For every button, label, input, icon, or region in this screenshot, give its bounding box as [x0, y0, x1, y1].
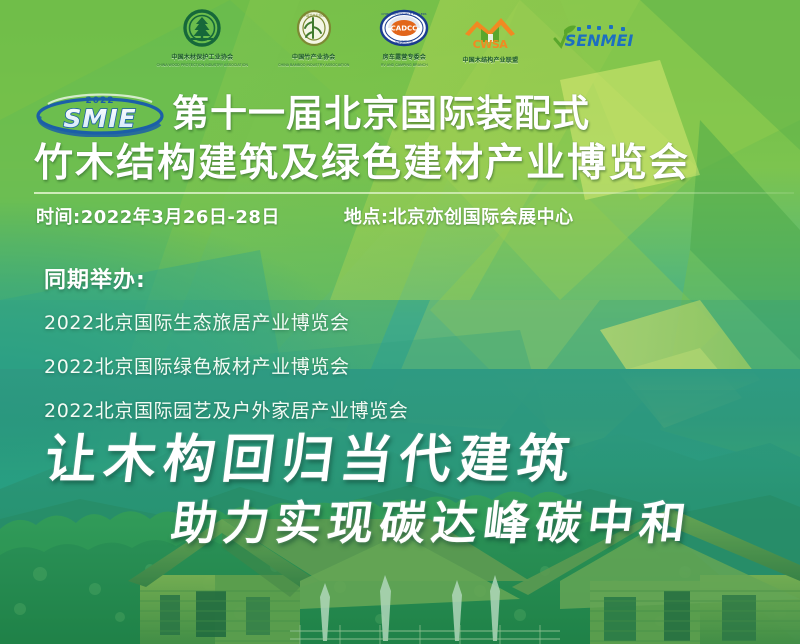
svg-text:SMIE: SMIE: [63, 104, 136, 133]
organizer-logo-cadcc[interactable]: CADCC CHINA AUTOMOBILE DEALERS 房车露营分会 房车…: [379, 9, 429, 67]
concurrent-events-block: 同期举办: 2022北京国际生态旅居产业博览会 2022北京国际绿色板材产业博览…: [44, 262, 408, 440]
svg-text:中国竹产业协会: 中国竹产业协会: [303, 13, 326, 18]
organizer-name-en: CHINA WOOD PROTECTION INDUSTRY ASSOCIATI…: [157, 63, 248, 67]
slogan-line-1: 让木构回归当代建筑: [41, 417, 581, 492]
exhibition-poster: 中国木材保护工业协会 CHINA WOOD PROTECTION INDUSTR…: [0, 0, 800, 644]
concurrent-heading: 同期举办:: [44, 262, 408, 294]
cwsa-house-icon: CWSA: [459, 12, 521, 57]
organizer-logo-cwsa[interactable]: CWSA 中国木结构产业联盟: [459, 12, 521, 65]
organizer-logo-row: 中国木材保护工业协会 CHINA WOOD PROTECTION INDUSTR…: [0, 8, 800, 68]
svg-text:CWSA: CWSA: [473, 38, 509, 51]
organizer-name-en: CHINA BAMBOO INDUSTRY ASSOCIATION: [278, 63, 349, 67]
svg-text:房车露营分会: 房车露营分会: [395, 39, 413, 44]
tree-shield-icon: [180, 9, 224, 54]
organizer-logo-bamboo-association[interactable]: 中国竹产业协会 中国竹产业协会 CHINA BAMBOO INDUSTRY AS…: [278, 9, 349, 67]
title-line-2: 竹木结构建筑及绿色建材产业博览会: [34, 141, 690, 186]
senmei-wordmark-icon: SENMEI: [551, 19, 643, 58]
title-divider: [34, 192, 794, 194]
organizer-name-cn: 房车露营专委会: [383, 55, 426, 62]
slogan-line-2: 助力实现碳达峰碳中和: [168, 487, 696, 553]
title-block: 2022 SMIE 第十一届北京国际装配式 竹木结构建筑及绿色建材产业博览会: [0, 88, 800, 186]
smie-logo[interactable]: 2022 SMIE: [34, 91, 166, 137]
organizer-name-cn: 中国木材保护工业协会: [171, 55, 233, 62]
title-line-1: 第十一届北京国际装配式: [172, 92, 590, 136]
cadcc-oval-icon: CADCC CHINA AUTOMOBILE DEALERS 房车露营分会: [379, 9, 429, 54]
svg-text:SENMEI: SENMEI: [565, 31, 634, 50]
concurrent-event-item[interactable]: 2022北京国际绿色板材产业博览会: [44, 352, 408, 379]
organizer-name-cn: 中国竹产业协会: [292, 55, 335, 62]
concurrent-event-item[interactable]: 2022北京国际生态旅居产业博览会: [44, 308, 408, 335]
event-meta: 时间:2022年3月26日-28日 地点:北京亦创国际会展中心: [36, 203, 574, 229]
bamboo-seal-icon: 中国竹产业协会: [293, 9, 335, 54]
organizer-name-cn: 中国木结构产业联盟: [462, 58, 518, 65]
organizer-name-en: RV AND CAMPING BRANCH: [381, 63, 428, 67]
organizer-logo-china-wood-protection[interactable]: 中国木材保护工业协会 CHINA WOOD PROTECTION INDUSTR…: [157, 9, 248, 67]
svg-text:CADCC: CADCC: [391, 25, 418, 33]
organizer-logo-senmei[interactable]: SENMEI: [551, 19, 643, 58]
event-venue: 地点:北京亦创国际会展中心: [344, 203, 574, 229]
event-date: 时间:2022年3月26日-28日: [36, 203, 280, 229]
svg-text:CHINA AUTOMOBILE DEALERS: CHINA AUTOMOBILE DEALERS: [382, 12, 427, 16]
